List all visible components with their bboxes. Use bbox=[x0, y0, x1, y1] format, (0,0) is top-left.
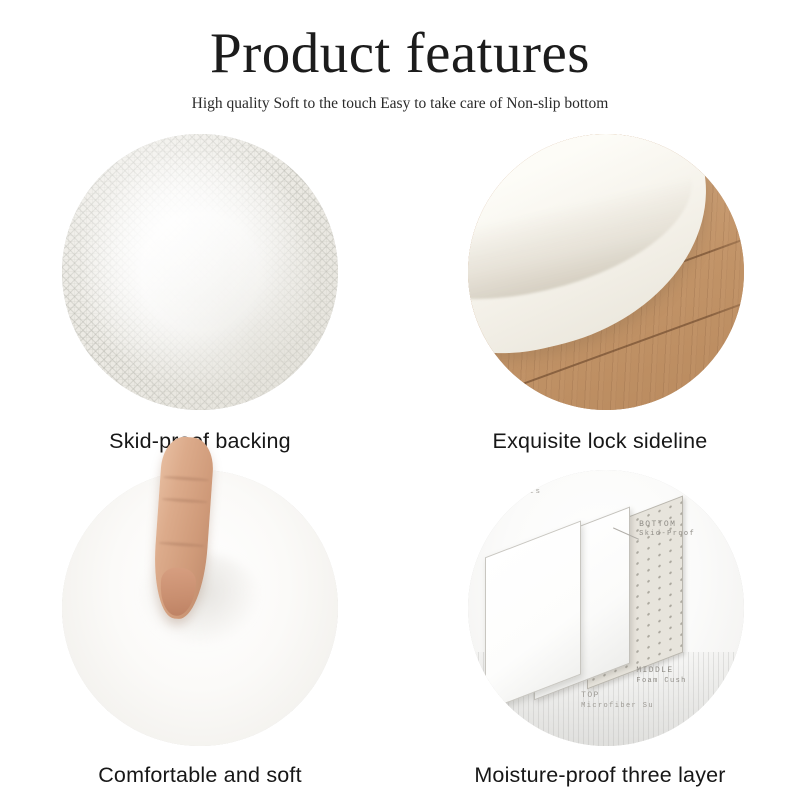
feature-card-skid-proof-backing: Skid-proof backing bbox=[0, 128, 400, 464]
knuckle-crease bbox=[164, 475, 210, 481]
feature-card-exquisite-lock-sideline: Exquisite lock sideline bbox=[400, 128, 800, 464]
feature-card-moisture-proof-three-layer: products BOTTOM Skid-Proof MIDDLE Foam C… bbox=[400, 464, 800, 800]
page-subtitle: High quality Soft to the touch Easy to t… bbox=[0, 94, 800, 114]
feature-image-skid-proof-backing bbox=[62, 134, 338, 410]
circle-mask: products BOTTOM Skid-Proof MIDDLE Foam C… bbox=[468, 470, 744, 746]
feature-image-exquisite-lock-sideline bbox=[468, 134, 744, 410]
diagram-label-top-desc: Microfiber Su bbox=[581, 702, 654, 711]
diagram-label-top-name: TOP bbox=[581, 691, 654, 702]
diagram-label-middle-desc: Foam Cush bbox=[636, 677, 686, 686]
diagram-label-bottom-desc: Skid-Proof bbox=[639, 530, 695, 539]
mesh-highlight bbox=[62, 134, 338, 410]
feature-image-comfortable-and-soft bbox=[62, 470, 338, 746]
feature-card-comfortable-and-soft: Comfortable and soft bbox=[0, 464, 400, 800]
feature-caption: Moisture-proof three layer bbox=[474, 762, 725, 788]
diagram-label-bottom: BOTTOM Skid-Proof bbox=[639, 520, 695, 540]
fingertip bbox=[160, 567, 198, 617]
feature-image-moisture-proof-three-layer: products BOTTOM Skid-Proof MIDDLE Foam C… bbox=[468, 470, 744, 746]
page-title: Product features bbox=[0, 22, 800, 86]
feature-caption: Comfortable and soft bbox=[98, 762, 302, 788]
knuckle-crease bbox=[159, 541, 205, 547]
circle-mask bbox=[62, 134, 338, 410]
diagram-label-middle: MIDDLE Foam Cush bbox=[636, 666, 686, 686]
page-header: Product features High quality Soft to th… bbox=[0, 0, 800, 114]
diagram-label-top: TOP Microfiber Su bbox=[581, 691, 654, 711]
diagram-label-middle-name: MIDDLE bbox=[636, 666, 686, 677]
knuckle-crease bbox=[162, 497, 208, 503]
feature-caption: Exquisite lock sideline bbox=[493, 428, 708, 454]
diagram-watermark: products bbox=[493, 487, 542, 497]
circle-mask bbox=[468, 134, 744, 410]
diagram-label-bottom-name: BOTTOM bbox=[639, 520, 695, 531]
features-grid: Skid-proof backing Exquisite lock sideli… bbox=[0, 128, 800, 800]
